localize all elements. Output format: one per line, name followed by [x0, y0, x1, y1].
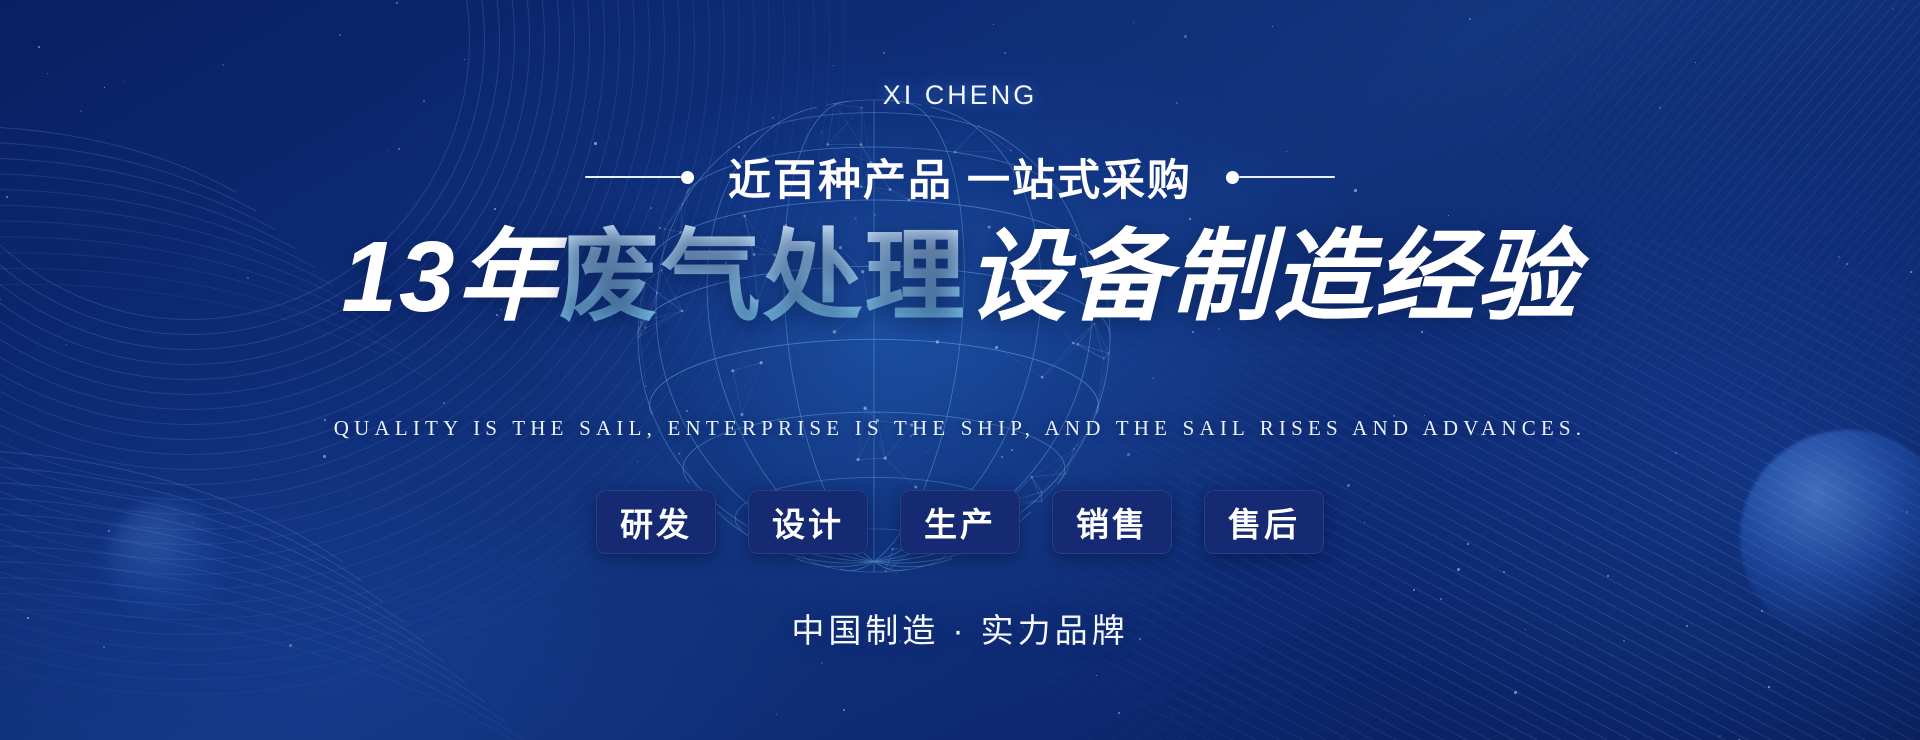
service-pill[interactable]: 售后: [1204, 490, 1324, 554]
service-pill[interactable]: 设计: [748, 490, 868, 554]
brand-name-en: XI CHENG: [0, 80, 1920, 111]
tagline-en: QUALITY IS THE SAIL, ENTERPRISE IS THE S…: [0, 416, 1920, 441]
service-pill[interactable]: 生产: [900, 490, 1020, 554]
service-pill[interactable]: 销售: [1052, 490, 1172, 554]
headline: 13年废气处理设备制造经验: [0, 218, 1920, 336]
rule-left-bar: [585, 176, 681, 179]
rule-left: [585, 171, 694, 184]
service-pill-list: 研发设计生产销售售后: [0, 490, 1920, 554]
banner-content: XI CHENG 近百种产品 一站式采购 13年废气处理设备制造经验 QUALI…: [0, 0, 1920, 740]
rule-left-dot: [681, 171, 694, 184]
headline-part-rest: 设备制造经验: [967, 221, 1579, 333]
rule-right-dot: [1226, 171, 1239, 184]
service-pill[interactable]: 研发: [596, 490, 716, 554]
rule-right: [1226, 171, 1335, 184]
rule-right-bar: [1239, 176, 1335, 179]
headline-part-highlight: 废气处理: [559, 221, 967, 333]
footer-slogan: 中国制造 · 实力品牌: [0, 604, 1920, 652]
subline-text: 近百种产品 一站式采购: [728, 146, 1192, 208]
headline-part-years: 13年: [341, 221, 558, 333]
subline-row: 近百种产品 一站式采购: [0, 146, 1920, 208]
hero-banner: XI CHENG 近百种产品 一站式采购 13年废气处理设备制造经验 QUALI…: [0, 0, 1920, 740]
